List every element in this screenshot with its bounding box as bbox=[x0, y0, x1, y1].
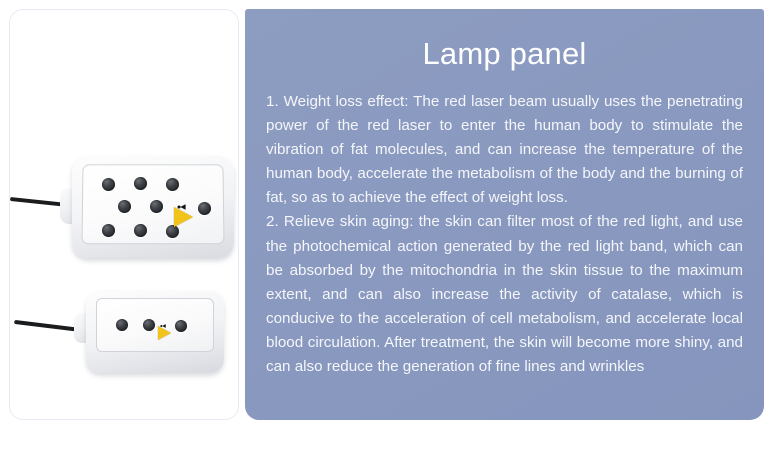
lamp-panel-9-led-device bbox=[56, 152, 234, 262]
power-cable bbox=[14, 320, 82, 332]
device-face-plate bbox=[96, 298, 214, 352]
led-dot bbox=[116, 319, 128, 331]
led-dot bbox=[150, 200, 163, 213]
laser-radiation-symbol bbox=[160, 323, 166, 329]
led-dot bbox=[198, 202, 211, 215]
page-title: Lamp panel bbox=[245, 38, 764, 69]
led-dot bbox=[102, 178, 115, 191]
description-panel: Lamp panel 1. Weight loss effect: The re… bbox=[245, 9, 764, 420]
led-dot bbox=[134, 177, 147, 190]
led-dot bbox=[134, 224, 147, 237]
led-dot bbox=[175, 320, 187, 332]
led-dot bbox=[102, 224, 115, 237]
led-dot bbox=[166, 178, 179, 191]
laser-radiation-symbol bbox=[177, 203, 186, 211]
description-text: 1. Weight loss effect: The red laser bea… bbox=[266, 90, 743, 379]
product-image-panel bbox=[9, 9, 239, 420]
product-description-card: Lamp panel 1. Weight loss effect: The re… bbox=[0, 0, 773, 449]
description-paragraph-1: 1. Weight loss effect: The red laser bea… bbox=[266, 90, 743, 210]
lamp-panel-3-led-device bbox=[72, 288, 224, 380]
led-dot bbox=[118, 200, 131, 213]
description-paragraph-2: 2. Relieve skin aging: the skin can filt… bbox=[266, 210, 743, 379]
led-dot bbox=[143, 319, 155, 331]
